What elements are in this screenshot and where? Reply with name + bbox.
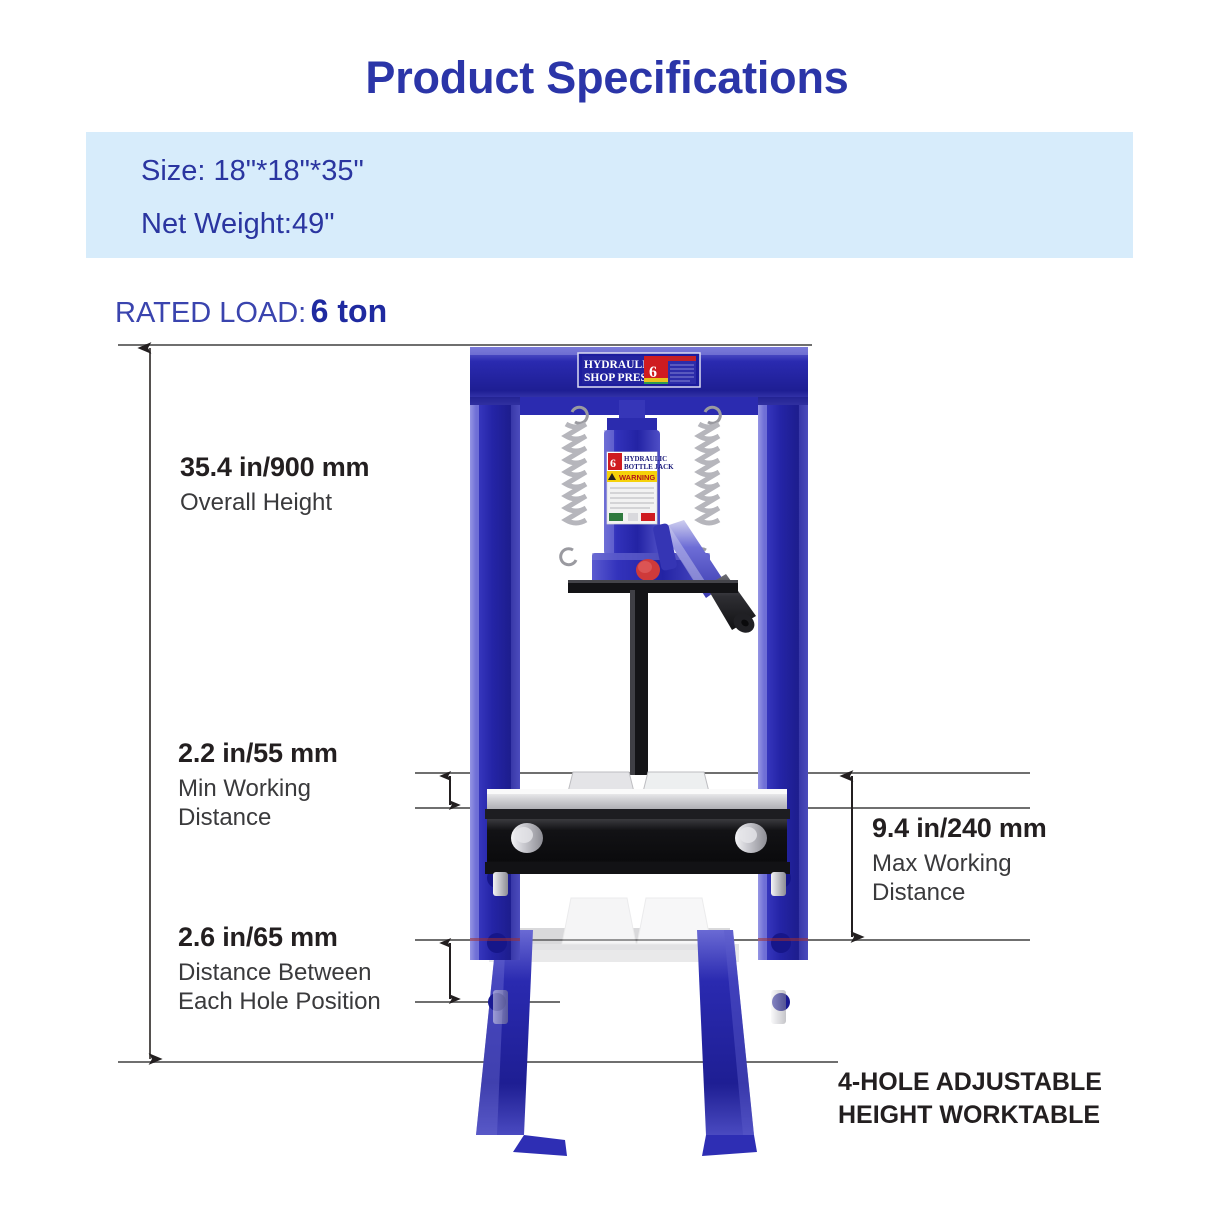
shop-press-label-line2: SHOP PRESS <box>584 372 653 384</box>
jack-label-line1: HYDRAULIC <box>624 455 667 463</box>
press-worktable-beam <box>485 809 790 874</box>
press-ram-rod <box>630 590 648 775</box>
shop-press-illustration: HYDRAULIC SHOP PRESS 6 <box>470 347 808 1156</box>
shop-press-label-plate: HYDRAULIC SHOP PRESS 6 <box>578 353 700 387</box>
jack-label-warning: WARNING <box>619 473 655 482</box>
press-legs <box>476 930 757 1156</box>
product-illustration: HYDRAULIC SHOP PRESS 6 <box>0 0 1214 1214</box>
jack-label-tonnage: 6 <box>610 456 616 470</box>
jack-label-line2: BOTTLE JACK <box>624 463 674 471</box>
jack-mount-plate <box>568 580 738 593</box>
press-worktable-plate <box>487 789 787 811</box>
spring-left <box>561 407 588 564</box>
product-spec-page: Product Specifications Size: 18"*18"*35"… <box>0 0 1214 1214</box>
worktable-support-pins <box>493 872 786 896</box>
hydraulic-bottle-jack: 6 HYDRAULIC BOTTLE JACK WARNING <box>592 400 758 637</box>
